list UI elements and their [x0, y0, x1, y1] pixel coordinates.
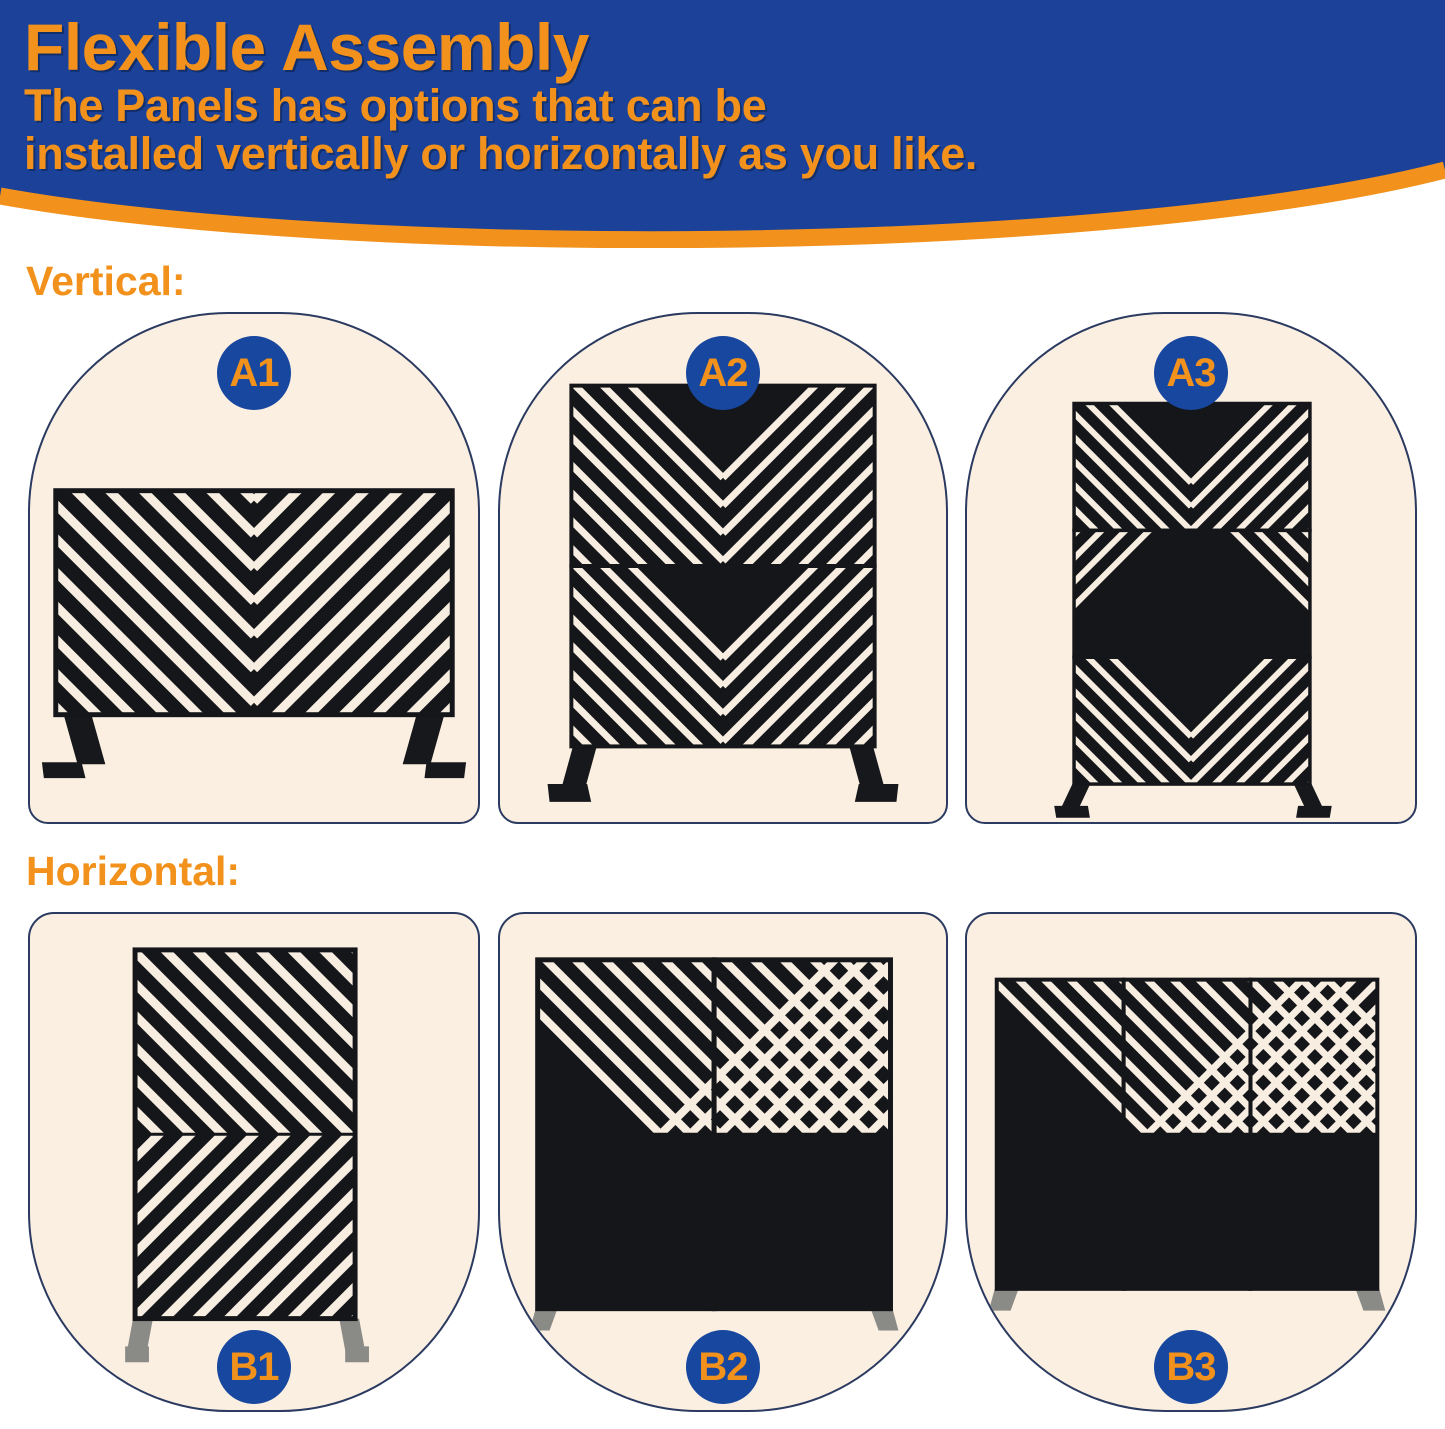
subtitle-line-1: The Panels has options that can be [24, 82, 1324, 130]
section-label-horizontal: Horizontal: [26, 848, 240, 895]
option-card-a1[interactable]: A1 [28, 312, 480, 824]
option-card-b3[interactable]: B3 [965, 912, 1417, 1412]
badge-a3: A3 [1154, 336, 1228, 410]
option-card-b2[interactable]: B2 [498, 912, 948, 1412]
panel-feet [989, 1289, 1385, 1311]
page-subtitle: The Panels has options that can be insta… [24, 82, 1324, 177]
page-title: Flexible Assembly [24, 14, 1324, 80]
badge-a1: A1 [217, 336, 291, 410]
panel-feet [530, 1309, 899, 1331]
badge-b1: B1 [217, 1330, 291, 1404]
header-banner: Flexible Assembly The Panels has options… [0, 0, 1445, 248]
badge-a2: A2 [686, 336, 760, 410]
panel-feet [42, 715, 466, 778]
option-card-b1[interactable]: B1 [28, 912, 480, 1412]
section-label-vertical: Vertical: [26, 258, 186, 305]
option-card-a3[interactable]: A3 [965, 312, 1417, 824]
option-card-a2[interactable]: A2 [498, 312, 948, 824]
subtitle-line-2: installed vertically or horizontally as … [24, 130, 1324, 178]
badge-b3: B3 [1154, 1330, 1228, 1404]
header-text-block: Flexible Assembly The Panels has options… [24, 14, 1324, 177]
badge-b2: B2 [686, 1330, 760, 1404]
